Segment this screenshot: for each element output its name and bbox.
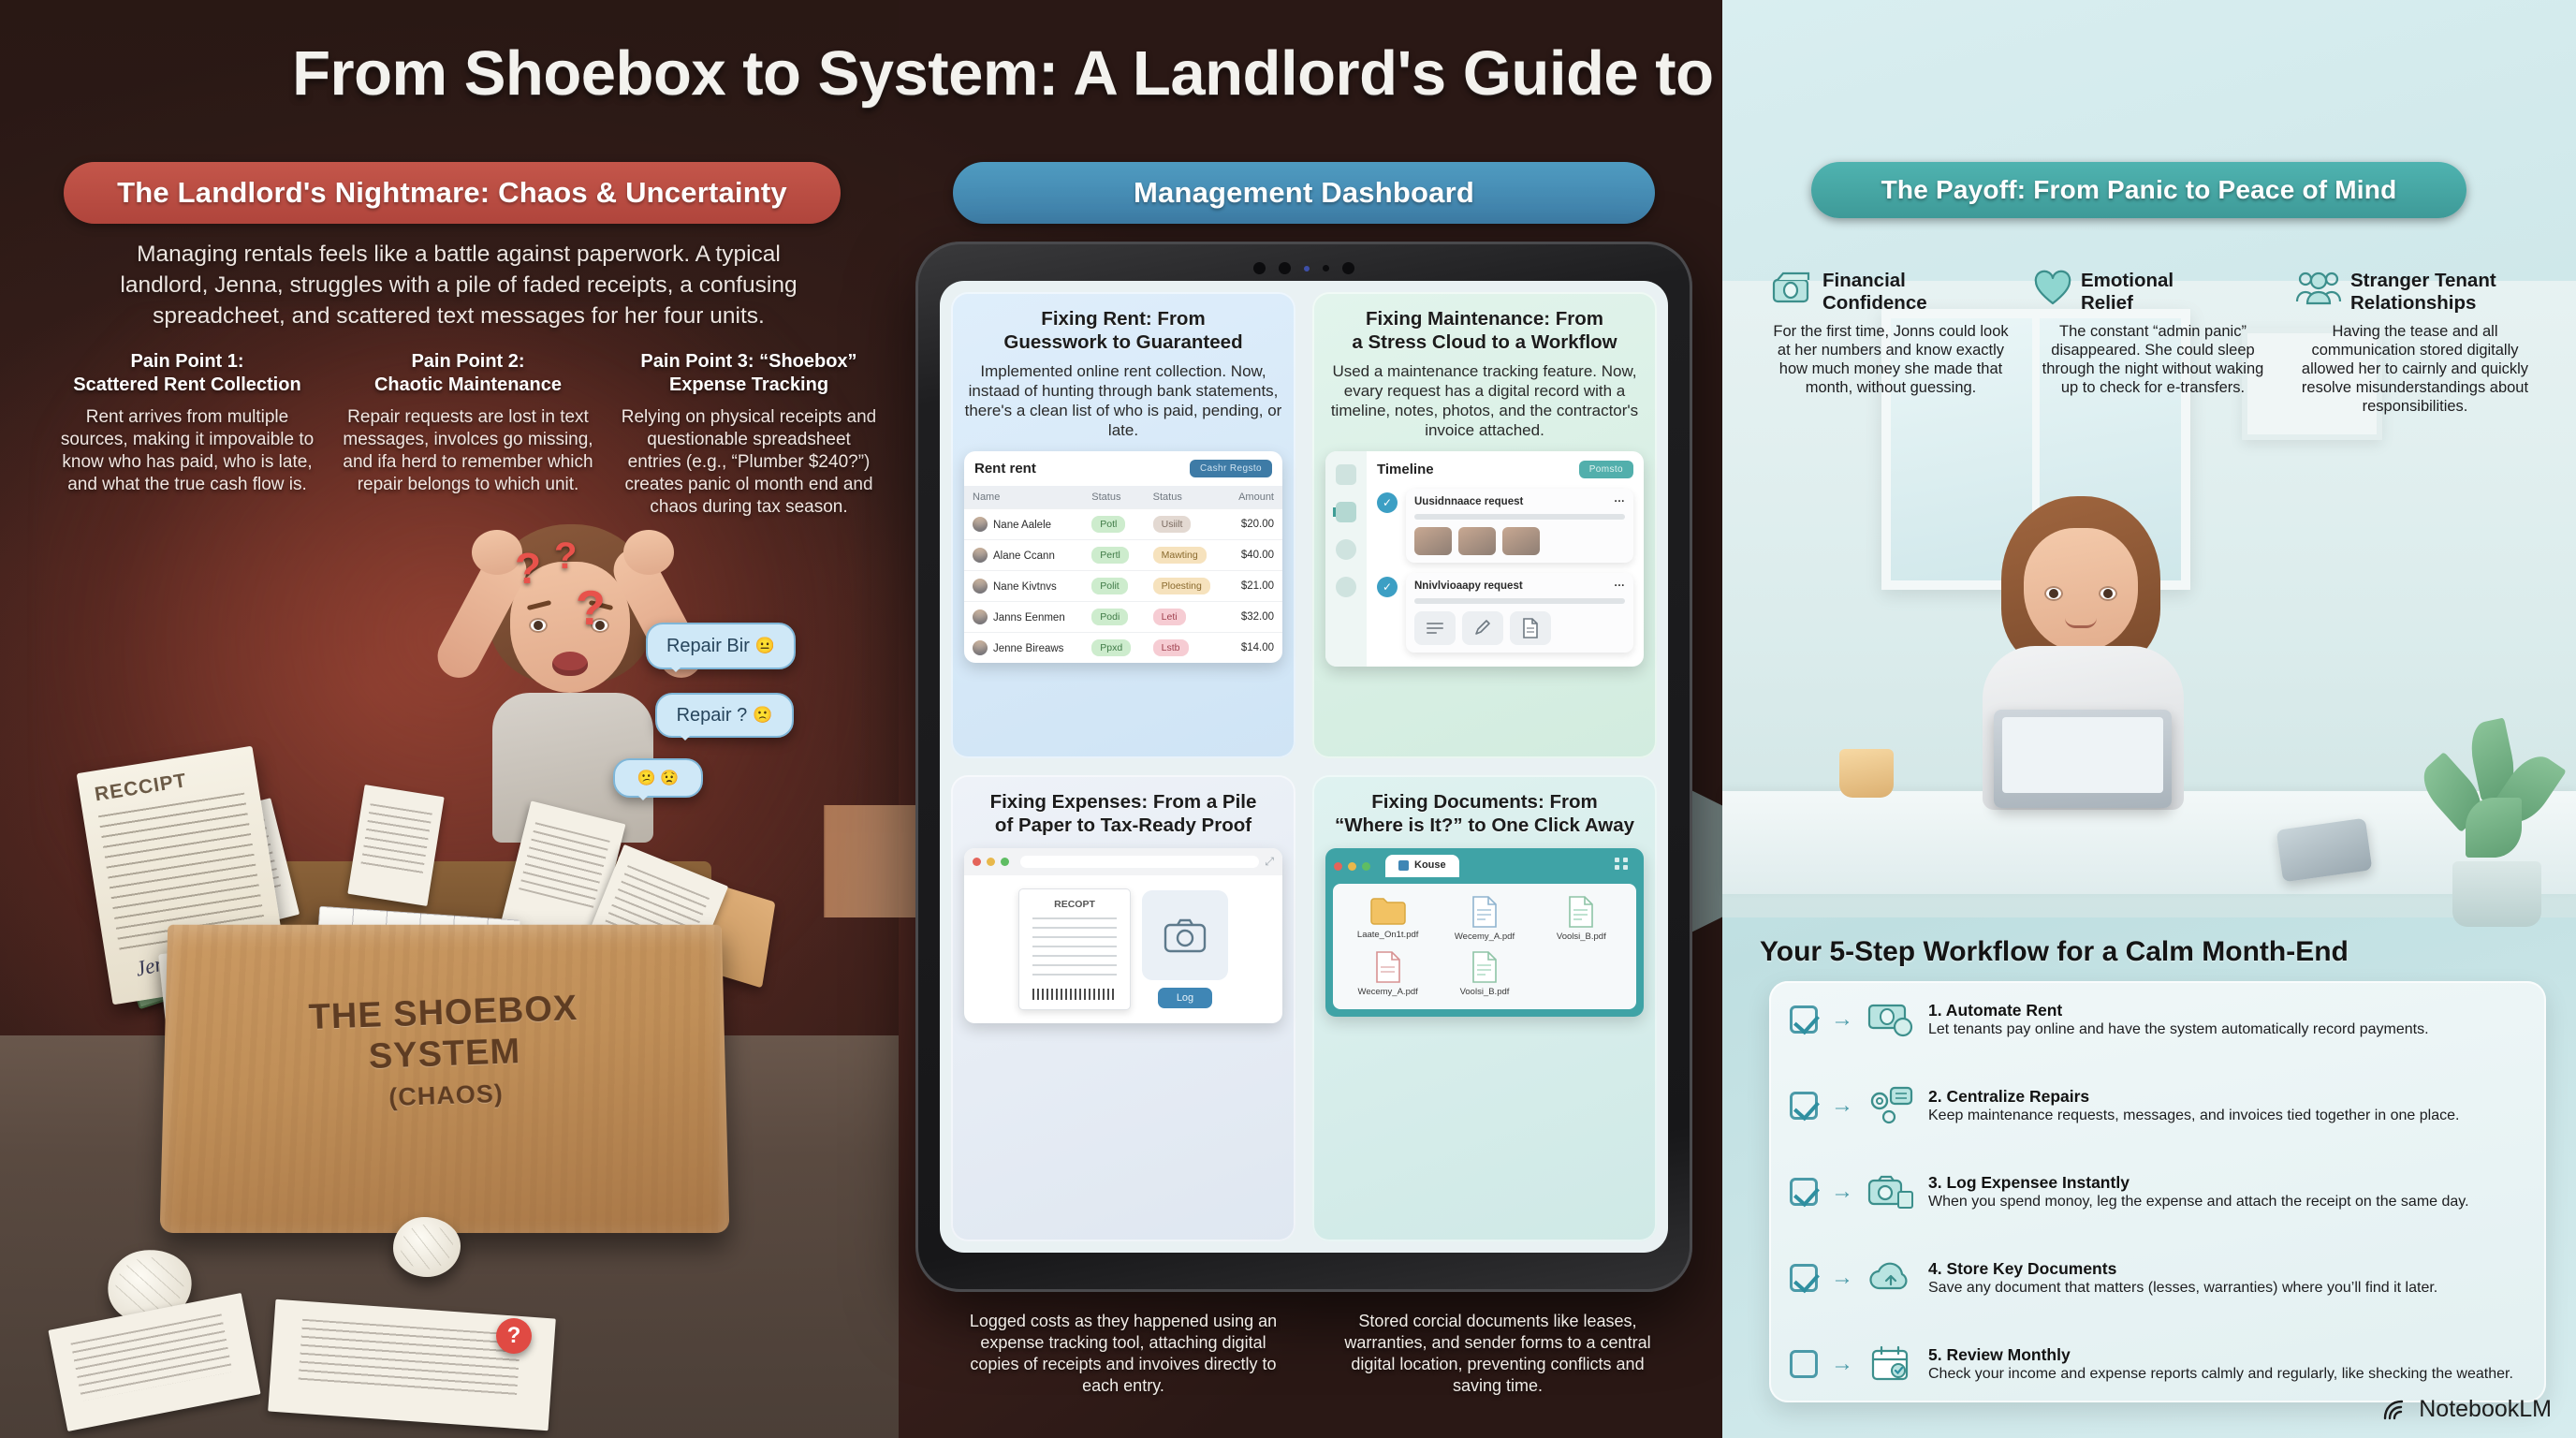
cloud-icon — [1866, 1256, 1915, 1299]
pain-point-1: Pain Point 1: Scattered Rent Collection … — [47, 350, 328, 519]
list-item[interactable]: Wecemy_A.pdf — [1455, 896, 1515, 942]
pain-point-3-body: Relying on physical receipts and questio… — [620, 406, 878, 519]
file-name: Wecemy_A.pdf — [1455, 932, 1515, 942]
photo-thumbnail[interactable] — [1414, 527, 1452, 555]
quadrant-2-heading: Fixing Maintenance: From a Stress Cloud … — [1325, 307, 1644, 354]
document-manager-window: Kouse Laate_On1t.pdf Wecemy_A.pdf — [1325, 848, 1644, 1017]
rent-table-header-row: Name Status Status Amount — [964, 486, 1282, 509]
plant-leaf — [2466, 798, 2522, 858]
pain-point-2-title-line1: Pain Point 2: — [411, 351, 524, 372]
workflow-step-3[interactable]: → 3. Log Expensee Instantly When you spe… — [1790, 1170, 2525, 1213]
timeline-sidebar — [1325, 451, 1367, 667]
receipt-preview: RECOPT — [1018, 888, 1131, 1010]
quadrant-1-heading: Fixing Rent: From Guesswork to Guarantee… — [964, 307, 1282, 354]
quadrant-3-heading: Fixing Expenses: From a Pile of Paper to… — [964, 790, 1282, 837]
file-grid: Laate_On1t.pdf Wecemy_A.pdf Voolsi_B.pdf — [1333, 884, 1636, 1009]
avatar — [973, 517, 988, 532]
timeline-body: Timeline Pomsto ✓ Uusidnnaace request ··… — [1367, 451, 1644, 667]
neutral-face-icon: 😐 — [755, 637, 775, 655]
list-item[interactable]: Wecemy_A.pdf — [1358, 951, 1418, 997]
camera-icon — [1866, 1170, 1915, 1213]
timeline-item-card: Uusidnnaace request ··· — [1406, 489, 1633, 563]
camera-sensor-icon — [1323, 265, 1329, 271]
minimize-icon[interactable] — [1348, 862, 1356, 871]
avatar — [973, 609, 988, 624]
documents-caption: Stored corcial documents like leases, wa… — [1329, 1311, 1666, 1397]
potted-plant — [2415, 712, 2574, 927]
rent-col-name: Name — [964, 486, 1083, 509]
pain-point-1-body: Rent arrives from multiple sources, maki… — [58, 406, 316, 496]
camera-led-icon — [1304, 266, 1310, 271]
overflow-menu-icon[interactable]: ··· — [1615, 580, 1626, 592]
file-name: Voolsi_B.pdf — [1557, 932, 1606, 942]
workflow-step-5-body: Check your income and expense reports ca… — [1928, 1365, 2513, 1384]
quadrant-1-description: Implemented online rent collection. Now,… — [964, 361, 1282, 440]
quadrant-4-heading-line1: Fixing Documents: From — [1371, 791, 1597, 813]
quadrant-3-heading-line2: of Paper to Tax-Ready Proof — [995, 814, 1251, 836]
grid-icon[interactable] — [1336, 464, 1356, 485]
avatar — [973, 548, 988, 563]
table-row[interactable]: Jenne Bireaws Ppxd Lstb $14.00 — [964, 633, 1282, 664]
rent-table: Name Status Status Amount Nane Aalele Po… — [964, 486, 1282, 663]
expense-caption: Logged costs as they happened using an e… — [955, 1311, 1292, 1397]
file-name: Wecemy_A.pdf — [1358, 987, 1418, 997]
timeline-title: Timeline — [1377, 462, 1434, 477]
workflow-step-1-text: 1. Automate Rent Let tenants pay online … — [1928, 1001, 2429, 1039]
plant-pot — [2452, 861, 2541, 927]
workflow-step-3-body: When you spend monoy, leg the expense an… — [1928, 1193, 2469, 1211]
timeline-header: Timeline Pomsto — [1377, 461, 1633, 478]
progress-bar — [1414, 514, 1625, 520]
workflow-step-1-title: 1. Automate Rent — [1928, 1001, 2429, 1020]
quadrant-1-heading-line1: Fixing Rent: From — [1041, 308, 1205, 330]
camera-lens-icon — [1253, 262, 1266, 274]
avatar — [973, 640, 988, 655]
quadrant-2-heading-line1: Fixing Maintenance: From — [1366, 308, 1603, 330]
infographic-root: From Shoebox to System: A Landlord's Gui… — [0, 0, 2576, 1438]
workflow-step-5-text: 5. Review Monthly Check your income and … — [1928, 1345, 2513, 1384]
speech-bubble-1-text: Repair Bir — [666, 636, 750, 657]
workflow-step-5-title: 5. Review Monthly — [1928, 1345, 2513, 1365]
pain-point-3: Pain Point 3: “Shoebox” Expense Tracking… — [608, 350, 889, 519]
person-mouth — [552, 652, 588, 676]
maximize-icon[interactable] — [1362, 862, 1370, 871]
list-item[interactable]: Voolsi_B.pdf — [1557, 896, 1606, 942]
receipt-preview-label: RECOPT — [1019, 899, 1130, 910]
pain-point-2-title-line2: Chaotic Maintenance — [374, 374, 562, 395]
intro-paragraph: Managing rentals feels like a battle aga… — [94, 239, 824, 331]
barcode-icon — [1032, 989, 1117, 1000]
status-badge: Polit — [1091, 578, 1127, 594]
workflow-step-4[interactable]: → 4. Store Key Documents Save any docume… — [1790, 1256, 2525, 1299]
document-icon — [1471, 896, 1498, 928]
document-window-titlebar: Kouse — [1325, 848, 1644, 884]
benefit-3-header: Stranger Tenant Relationships — [2295, 270, 2535, 315]
pain-point-3-title-line2: Expense Tracking — [669, 374, 828, 395]
status-badge: Potl — [1091, 516, 1125, 533]
rent-amount: $20.00 — [1225, 509, 1282, 540]
document-actions — [1414, 611, 1625, 645]
notes-icon[interactable] — [1414, 611, 1456, 645]
status-badge: Lstb — [1153, 639, 1189, 656]
tenant-name: Jenne Bireaws — [964, 633, 1083, 664]
list-item[interactable]: Laate_On1t.pdf — [1357, 896, 1419, 942]
rent-col-status1: Status — [1083, 486, 1144, 509]
file-name: Voolsi_B.pdf — [1460, 987, 1510, 997]
progress-bar — [1414, 598, 1625, 604]
section-header-dashboard: Management Dashboard — [953, 162, 1655, 224]
pain-points-row: Pain Point 1: Scattered Rent Collection … — [47, 350, 889, 519]
tablet-camera-cluster — [1253, 262, 1354, 274]
avatar — [973, 579, 988, 594]
arrow-right-icon: → — [1831, 1179, 1853, 1205]
quadrant-4-heading-line2: “Where is It?” to One Click Away — [1335, 814, 1634, 836]
benefit-1-body: For the first time, Jonns could look at … — [1771, 322, 2011, 397]
tenant-name: Alane Ccann — [964, 540, 1083, 571]
box-label-line1: THE SHOEBOX — [308, 989, 578, 1037]
status-badge: Ploesting — [1153, 578, 1210, 594]
person-face — [2024, 528, 2138, 652]
benefit-1-header: Financial Confidence — [1771, 270, 2011, 315]
quadrant-fixing-rent: Fixing Rent: From Guesswork to Guarantee… — [951, 292, 1295, 758]
person-eye-right — [2099, 586, 2117, 601]
stress-question-mark-3: ? — [576, 580, 606, 637]
collect-rent-button[interactable]: Cashr Regsto — [1190, 460, 1272, 477]
box-label: THE SHOEBOX SYSTEM (CHAOS) — [176, 983, 713, 1125]
capture-column: Log — [1142, 890, 1228, 1008]
gear-icon[interactable] — [1336, 577, 1356, 597]
camera-lens-icon — [1342, 262, 1354, 274]
timeline-item-header: Uusidnnaace request ··· — [1414, 496, 1625, 507]
pain-point-1-title-line2: Scattered Rent Collection — [73, 374, 300, 395]
workflow-step-2-body: Keep maintenance requests, messages, and… — [1928, 1107, 2459, 1125]
photo-thumbnail[interactable] — [1458, 527, 1496, 555]
workflow-step-1-body: Let tenants pay online and have the syst… — [1928, 1020, 2429, 1039]
people-icon — [2295, 270, 2342, 307]
quadrant-fixing-documents: Fixing Documents: From “Where is It?” to… — [1312, 775, 1657, 1241]
rent-amount: $40.00 — [1225, 540, 1282, 571]
person-brow-left — [527, 600, 551, 610]
person-eye-left — [529, 618, 548, 633]
address-bar[interactable] — [1020, 856, 1259, 868]
quadrant-fixing-maintenance: Fixing Maintenance: From a Stress Cloud … — [1312, 292, 1657, 758]
check-icon: ✓ — [1377, 577, 1398, 597]
arrow-right-icon: → — [1831, 1351, 1853, 1377]
timeline-item[interactable]: ✓ Nnivlvioaapy request ··· — [1377, 573, 1633, 653]
clock-icon[interactable] — [1336, 539, 1356, 560]
tenant-name: Janns Eenmen — [964, 602, 1083, 633]
rent-col-amount: Amount — [1225, 486, 1282, 509]
check-icon: ✓ — [1377, 492, 1398, 513]
photo-thumbnails — [1414, 527, 1625, 555]
arrow-right-icon: → — [1831, 1265, 1853, 1291]
stress-question-mark-1: ? — [515, 543, 541, 594]
calendar-icon — [1866, 1343, 1915, 1386]
workflow-step-3-title: 3. Log Expensee Instantly — [1928, 1173, 2469, 1193]
table-row[interactable]: Alane Ccann Pertl Mawting $40.00 — [964, 540, 1282, 571]
timeline-item-card: Nnivlvioaapy request ··· — [1406, 573, 1633, 653]
quadrant-1-heading-line2: Guesswork to Guaranteed — [1003, 331, 1242, 353]
workflow-step-2[interactable]: → 2. Centralize Repairs Keep maintenance… — [1790, 1084, 2525, 1127]
benefit-2-body: The constant “admin panic” disappeared. … — [2033, 322, 2273, 397]
quadrant-2-heading-line2: a Stress Cloud to a Workflow — [1352, 331, 1617, 353]
log-button[interactable]: Log — [1158, 988, 1212, 1008]
table-row[interactable]: Nane Kivtnvs Polit Ploesting $21.00 — [964, 571, 1282, 602]
checkbox-icon[interactable] — [1790, 1350, 1818, 1378]
workflow-title: Your 5-Step Workflow for a Calm Month-En… — [1760, 936, 2546, 968]
timeline-item-label: Nnivlvioaapy request — [1414, 580, 1523, 592]
rent-amount: $14.00 — [1225, 633, 1282, 664]
window-titlebar: ⤢ — [964, 848, 1282, 875]
status-badge: Pertl — [1091, 547, 1129, 564]
benefit-2-header: Emotional Relief — [2033, 270, 2273, 315]
question-badge-icon: ? — [496, 1318, 532, 1354]
benefit-tenant-relationships: Stranger Tenant Relationships Having the… — [2284, 270, 2546, 416]
pain-point-2: Pain Point 2: Chaotic Maintenance Repair… — [328, 350, 608, 519]
coffee-mug — [1839, 749, 1894, 798]
status-badge: Podi — [1091, 609, 1128, 625]
workflow-step-1[interactable]: → 1. Automate Rent Let tenants pay onlin… — [1790, 998, 2525, 1041]
timeline-card: Timeline Pomsto ✓ Uusidnnaace request ··… — [1325, 451, 1644, 667]
close-icon[interactable] — [973, 858, 981, 866]
status-badge: Usiilt — [1153, 516, 1192, 533]
money-icon — [1771, 270, 1814, 307]
money-icon — [1866, 998, 1915, 1041]
document-icon — [1471, 951, 1498, 983]
workflow-step-4-title: 4. Store Key Documents — [1928, 1259, 2437, 1279]
camera-lens-icon — [1279, 262, 1291, 274]
camera-capture-tile[interactable] — [1142, 890, 1228, 980]
tenant-name: Nane Aalele — [964, 509, 1083, 540]
close-icon[interactable] — [1334, 862, 1342, 871]
photo-thumbnail[interactable] — [1502, 527, 1540, 555]
rent-card-title: Rent rent — [974, 461, 1036, 477]
benefit-emotional-relief: Emotional Relief The constant “admin pan… — [2022, 270, 2284, 416]
pain-point-1-title: Pain Point 1: Scattered Rent Collection — [58, 350, 316, 397]
overflow-menu-icon[interactable]: ··· — [1615, 496, 1626, 507]
rent-col-status2: Status — [1145, 486, 1225, 509]
arrow-right-icon: → — [1831, 1006, 1853, 1033]
maximize-icon[interactable] — [1001, 858, 1009, 866]
benefit-financial-confidence: Financial Confidence For the first time,… — [1760, 270, 2022, 416]
document-icon — [1568, 896, 1594, 928]
workflow-checklist: → 1. Automate Rent Let tenants pay onlin… — [1769, 981, 2546, 1402]
pain-point-3-title: Pain Point 3: “Shoebox” Expense Tracking — [620, 350, 878, 397]
camera-icon — [1164, 917, 1207, 953]
notebooklm-wordmark: NotebookLM — [2419, 1396, 2552, 1423]
pain-point-3-title-line1: Pain Point 3: “Shoebox” — [640, 351, 856, 372]
person-hand-right — [623, 530, 674, 575]
person-smile — [2065, 618, 2097, 628]
pain-point-2-body: Repair requests are lost in text message… — [339, 406, 597, 496]
expense-window-body: RECOPT Log — [964, 875, 1282, 1023]
timeline-item-label: Uusidnnaace request — [1414, 496, 1523, 507]
laptop — [1994, 710, 2172, 808]
checkbox-icon[interactable] — [1790, 1005, 1818, 1034]
workflow-step-2-title: 2. Centralize Repairs — [1928, 1087, 2459, 1107]
benefit-1-title: Financial Confidence — [1822, 270, 1927, 315]
rent-card-header: Rent rent Cashr Regsto — [964, 451, 1282, 486]
table-row[interactable]: Nane Aalele Potl Usiilt $20.00 — [964, 509, 1282, 540]
pencil-icon[interactable] — [1462, 611, 1503, 645]
checkbox-icon[interactable] — [1790, 1092, 1818, 1120]
quadrant-2-description: Used a maintenance tracking feature. Now… — [1325, 361, 1644, 440]
workflow-step-2-text: 2. Centralize Repairs Keep maintenance r… — [1928, 1087, 2459, 1125]
workflow-step-4-body: Save any document that matters (lesses, … — [1928, 1279, 2437, 1298]
document-icon[interactable] — [1510, 611, 1551, 645]
rent-amount: $21.00 — [1225, 571, 1282, 602]
paper-scrap — [347, 785, 444, 906]
benefits-row: Financial Confidence For the first time,… — [1760, 270, 2546, 416]
expand-icon[interactable]: ⤢ — [1265, 855, 1274, 869]
speech-bubble-repair-1: Repair Bir 😐 — [646, 623, 796, 669]
timeline-item-header: Nnivlvioaapy request ··· — [1414, 580, 1625, 592]
person-eye-left — [2044, 586, 2063, 601]
promote-button[interactable]: Pomsto — [1579, 461, 1633, 478]
pdf-icon — [1375, 951, 1401, 983]
folder-icon — [1369, 896, 1407, 926]
receipt-title: RECCIPT — [94, 770, 189, 806]
status-badge: Mawting — [1153, 547, 1207, 564]
checkbox-icon[interactable] — [1790, 1264, 1818, 1292]
workflow-step-4-text: 4. Store Key Documents Save any document… — [1928, 1259, 2437, 1298]
expense-app-window: ⤢ RECOPT Log — [964, 848, 1282, 1023]
quadrant-fixing-expenses: Fixing Expenses: From a Pile of Paper to… — [951, 775, 1295, 1241]
receipt-preview-lines — [1032, 917, 1117, 983]
benefit-3-body: Having the tease and all communication s… — [2295, 322, 2535, 416]
folder-tab[interactable]: Kouse — [1385, 855, 1459, 877]
folder-icon — [1398, 860, 1409, 871]
crumpled-paper — [393, 1217, 461, 1277]
gears-icon — [1866, 1084, 1915, 1127]
quadrant-3-heading-line1: Fixing Expenses: From a Pile — [990, 791, 1257, 813]
status-badge: Ppxd — [1091, 639, 1131, 656]
timeline-item[interactable]: ✓ Uusidnnaace request ··· — [1377, 489, 1633, 563]
calm-landlord-illustration — [1928, 496, 2237, 805]
section-header-chaos: The Landlord's Nightmare: Chaos & Uncert… — [64, 162, 841, 224]
benefit-2-title: Emotional Relief — [2081, 270, 2173, 315]
status-badge: Leti — [1153, 609, 1186, 625]
notebooklm-logo-icon — [2381, 1398, 2409, 1422]
notebooklm-branding: NotebookLM — [2381, 1396, 2552, 1423]
list-item[interactable]: Voolsi_B.pdf — [1460, 951, 1510, 997]
rent-roll-card: Rent rent Cashr Regsto Name Status Statu… — [964, 451, 1282, 663]
section-header-payoff: The Payoff: From Panic to Peace of Mind — [1811, 162, 2466, 218]
shoebox-illustration: RECCIPT Jenna Receipt ? ? THE SHOEBOX SY… — [75, 721, 814, 1245]
file-name: Laate_On1t.pdf — [1357, 930, 1419, 940]
workflow-step-5[interactable]: → 5. Review Monthly Check your income an… — [1790, 1343, 2525, 1386]
tablet-device: Fixing Rent: From Guesswork to Guarantee… — [915, 242, 1692, 1292]
pain-point-1-title-line1: Pain Point 1: — [130, 351, 243, 372]
tablet-screen: Fixing Rent: From Guesswork to Guarantee… — [940, 281, 1668, 1253]
list-icon[interactable] — [1336, 502, 1356, 522]
rent-amount: $32.00 — [1225, 602, 1282, 633]
stress-question-mark-2: ? — [554, 536, 577, 578]
benefit-3-title: Stranger Tenant Relationships — [2350, 270, 2496, 315]
folder-tab-label: Kouse — [1414, 859, 1446, 871]
checkbox-icon[interactable] — [1790, 1178, 1818, 1206]
grid-view-icon[interactable] — [1615, 858, 1629, 870]
minimize-icon[interactable] — [987, 858, 995, 866]
quadrant-4-heading: Fixing Documents: From “Where is It?” to… — [1325, 790, 1644, 837]
heart-icon — [2033, 270, 2072, 307]
arrow-right-icon: → — [1831, 1093, 1853, 1119]
tenant-name: Nane Kivtnvs — [964, 571, 1083, 602]
table-row[interactable]: Janns Eenmen Podi Leti $32.00 — [964, 602, 1282, 633]
pain-point-2-title: Pain Point 2: Chaotic Maintenance — [339, 350, 597, 397]
workflow-step-3-text: 3. Log Expensee Instantly When you spend… — [1928, 1173, 2469, 1211]
